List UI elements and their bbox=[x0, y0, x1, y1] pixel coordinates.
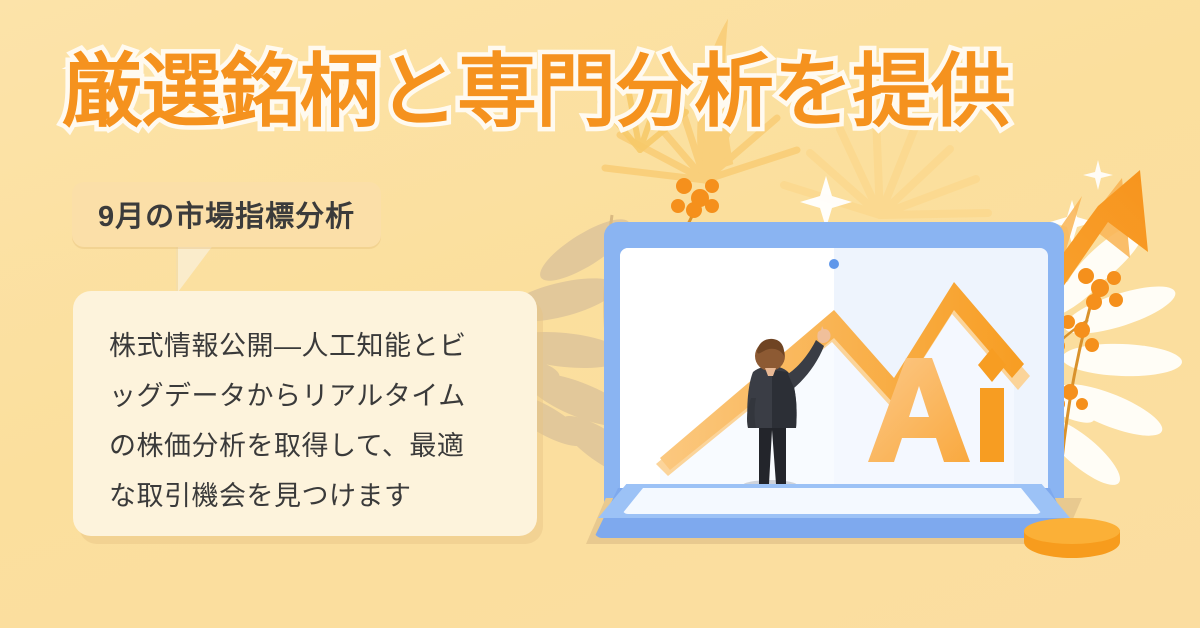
description-line: 株式情報公開—人工知能とビ bbox=[109, 321, 509, 371]
gold-coin bbox=[1024, 518, 1120, 562]
description-text: 株式情報公開—人工知能とビ ッグデータからリアルタイム の株価分析を取得して、最… bbox=[109, 321, 509, 521]
laptop-lid bbox=[604, 222, 1064, 514]
laptop-screen bbox=[620, 248, 1048, 498]
subtitle-badge: 9月の市場指標分析 bbox=[72, 182, 381, 247]
banner-stage: 厳選銘柄と専門分析を提供 厳選銘柄と専門分析を提供 9月の市場指標分析 株式情報… bbox=[0, 0, 1200, 628]
page-title: 厳選銘柄と専門分析を提供 bbox=[62, 52, 1010, 132]
laptop-illustration bbox=[604, 222, 1064, 542]
description-line: の株価分析を取得して、最適 bbox=[109, 421, 509, 471]
laptop-keyboard-deck bbox=[622, 488, 1042, 514]
subtitle-badge-label: 9月の市場指標分析 bbox=[98, 193, 355, 235]
screen-content bbox=[620, 248, 1048, 498]
coin-top bbox=[1024, 518, 1120, 544]
laptop-camera-dot bbox=[829, 259, 839, 269]
description-line: ッグデータからリアルタイム bbox=[109, 371, 509, 421]
description-card: 株式情報公開—人工知能とビ ッグデータからリアルタイム の株価分析を取得して、最… bbox=[73, 291, 537, 536]
description-line: な取引機会を見つけます bbox=[109, 471, 509, 521]
